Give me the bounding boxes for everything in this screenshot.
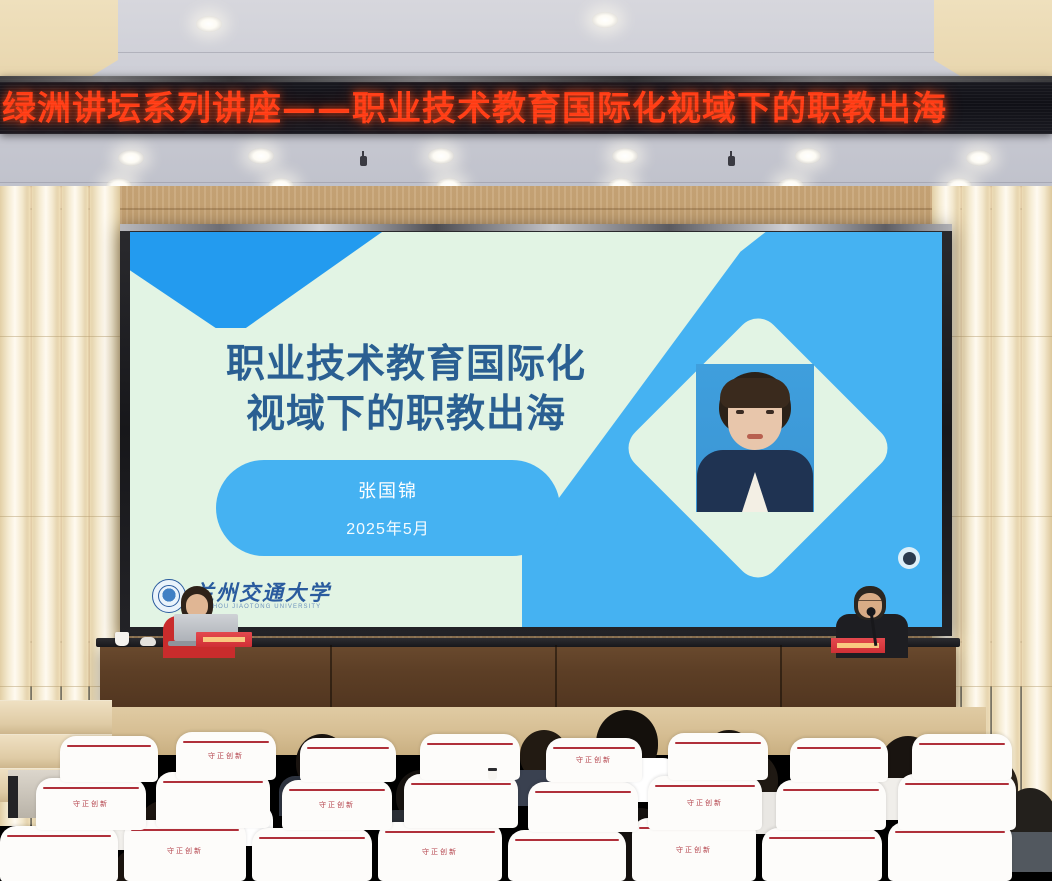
led-banner: 绿洲讲坛系列讲座——职业技术教育国际化视域下的职教出海 [0,76,1052,134]
presentation-slide: 职业技术教育国际化 视域下的职教出海 张国锦 2025年5月 兰州交通大学 LA… [130,232,942,627]
seat-cover-text: 守正创新 [176,751,276,761]
seat-cover-text: 守正创新 [378,847,502,857]
audience-seat: 守正创新 [378,822,502,881]
slide-title-line-2: 视域下的职教出海 [176,390,636,440]
audience-seat: 守正创新 [282,780,392,830]
slide-date: 2025年5月 [346,515,430,539]
ceiling-downlight [592,12,618,28]
audience-seat: 守正创新 [36,778,146,830]
slide-speaker-pill: 张国锦 2025年5月 [216,460,560,556]
ceiling-sensor-icon [360,156,367,166]
ceiling-downlight [428,148,454,164]
ceiling-downlight [612,148,638,164]
slide-shape-top-left [130,232,382,328]
lecture-hall-photo: 职业技术教育国际化 视域下的职教出海 张国锦 2025年5月 兰州交通大学 LA… [0,0,1052,881]
seat-cover-text: 守正创新 [648,798,762,808]
audience-seat [300,738,396,782]
audience-seat [912,734,1012,780]
audience-seat [776,780,886,830]
audience-seat [252,828,372,881]
audience-seat [404,774,518,828]
presenter-nameplate [196,632,252,647]
ceiling-downlight [196,16,222,32]
audience-seat [508,830,626,881]
ceiling-sensor-icon [728,156,735,166]
audience-seat: 守正创新 [546,738,642,782]
ceiling-downlight [248,148,274,164]
audience-area: 守正创新守正创新守正创新守正创新守正创新守正创新守正创新守正创新 [0,700,1052,881]
audience-seat [60,736,158,782]
audience-seat [898,774,1016,830]
audience-seat: 守正创新 [176,732,276,780]
audience-seat [668,733,768,780]
audience-seat [888,822,1012,881]
audience-seat [420,734,520,780]
led-banner-text: 绿洲讲坛系列讲座——职业技术教育国际化视域下的职教出海 [0,81,947,130]
seat-cover-text: 守正创新 [282,800,392,810]
ceiling-downlight [966,150,992,166]
audience-seat [790,738,888,782]
water-cup [115,632,129,646]
seat-cover-text: 守正创新 [124,846,246,856]
slide-title-line-1: 职业技术教育国际化 [176,340,636,390]
computer-mouse [140,637,156,646]
slide-title: 职业技术教育国际化 视域下的职教出海 [176,340,636,440]
slide-speaker-name: 张国锦 [358,477,418,503]
speaker-portrait [696,364,814,512]
audience-seat [528,782,638,832]
audience-seat [762,828,882,881]
ceiling-downlight [795,148,821,164]
seat-cover-text: 守正创新 [36,799,146,809]
seat-cover-text: 守正创新 [632,845,756,855]
audience-seat: 守正创新 [648,776,762,830]
seat-cover-text: 守正创新 [546,755,642,765]
audience-seat [0,826,118,881]
projection-screen: 职业技术教育国际化 视域下的职教出海 张国锦 2025年5月 兰州交通大学 LA… [120,224,952,636]
audience-cup [488,768,497,780]
ceiling-downlight [118,150,144,166]
speaker-avatar-badge-icon [898,547,920,569]
audience-seat [156,772,270,828]
